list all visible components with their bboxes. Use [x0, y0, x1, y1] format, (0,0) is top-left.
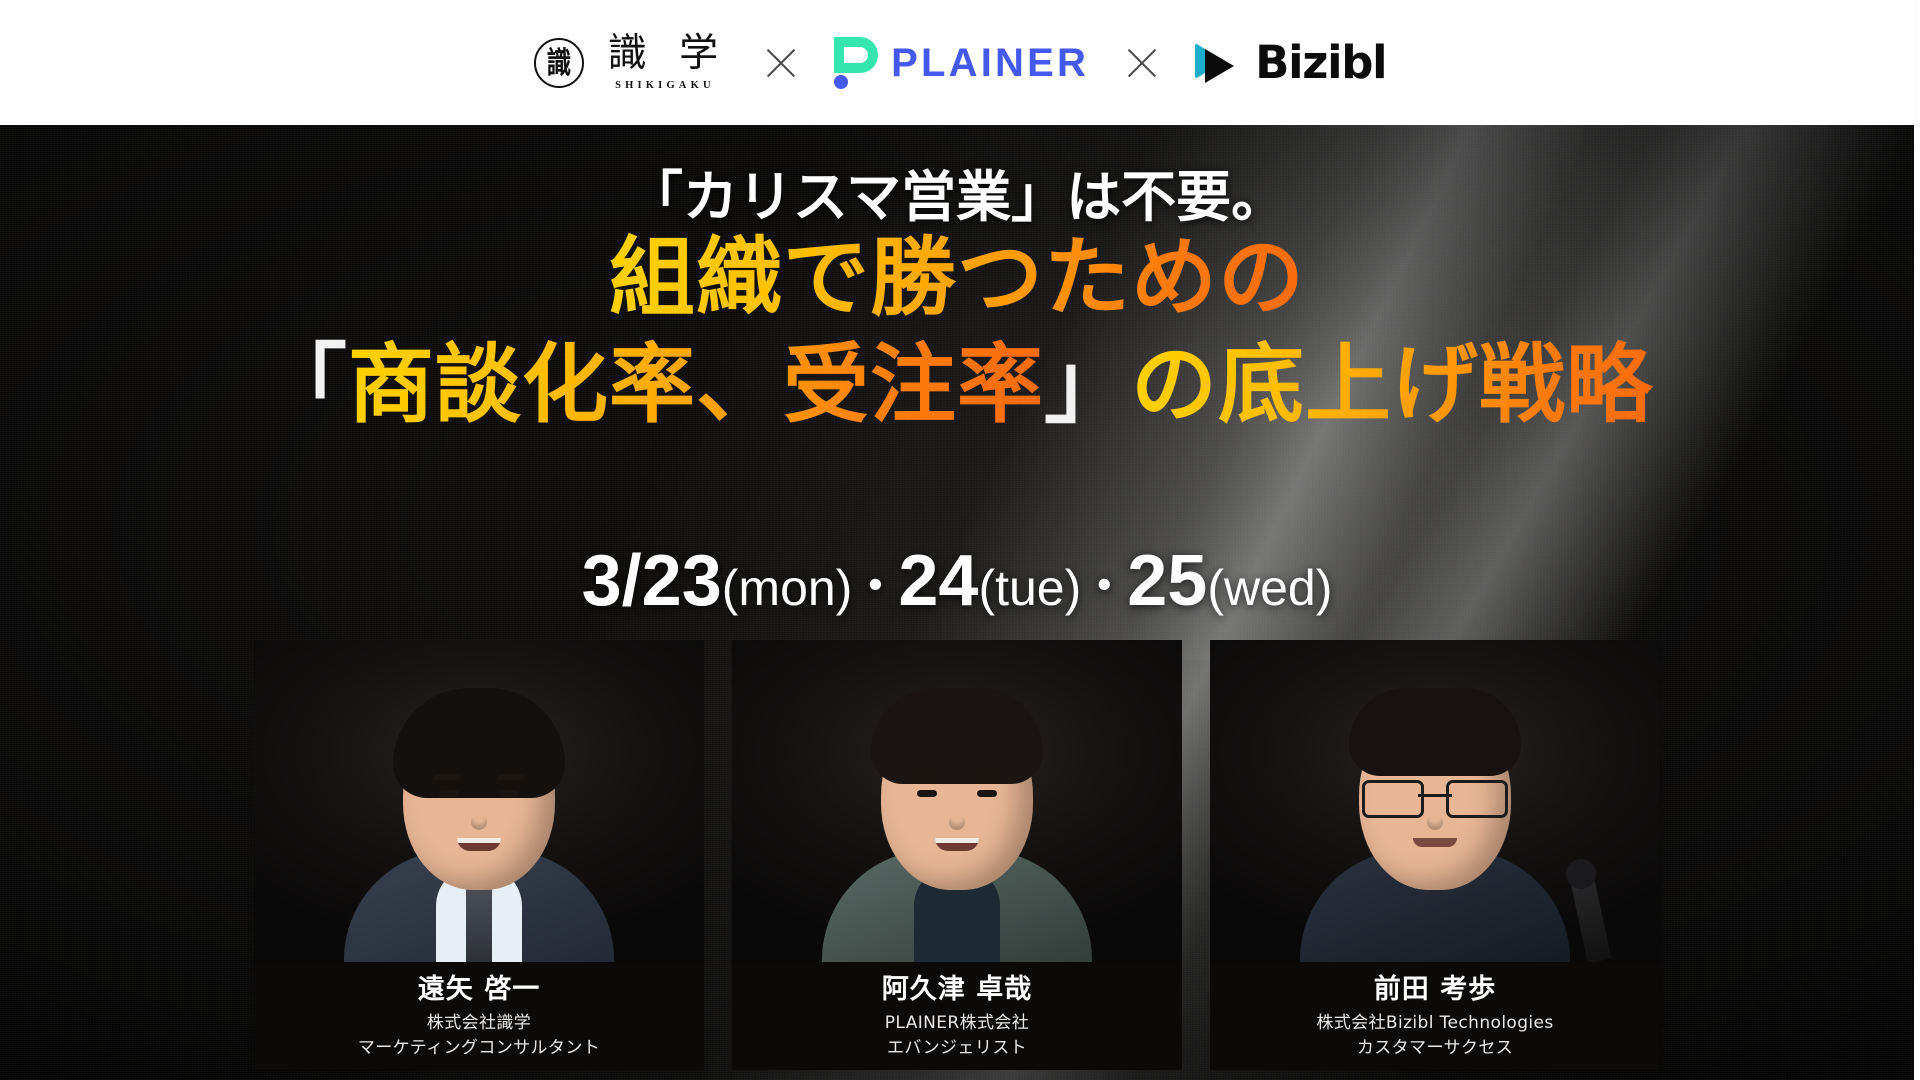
speaker-name-plate: 遠矢 啓一 株式会社識学 マーケティングコンサルタント	[254, 962, 704, 1070]
speaker-portrait-1	[254, 640, 704, 962]
speaker-card: 前田 考歩 株式会社Bizibl Technologies カスタマーサクセス	[1210, 640, 1660, 1070]
speaker-photo	[1210, 640, 1660, 962]
speaker-name: 前田 考歩	[1374, 974, 1496, 1005]
portrait-brow-right	[976, 774, 1002, 780]
portrait-nose	[471, 814, 487, 830]
speaker-list: 遠矢 啓一 株式会社識学 マーケティングコンサルタント	[0, 640, 1914, 1070]
bizibl-wordmark: Bizibl	[1255, 40, 1386, 85]
headline-inner-text: 商談化率、受注率	[348, 335, 1044, 435]
hero-kicker: 「カリスマ営業」は不要。	[0, 170, 1914, 225]
portrait-hair	[1349, 688, 1521, 776]
speaker-photo	[732, 640, 1182, 962]
event-date-line: 3/23(mon)・24(tue)・25(wed)	[0, 545, 1914, 617]
headline-line-1-text: 組織で勝つための	[609, 228, 1305, 328]
portrait-glasses-icon	[1362, 780, 1508, 814]
headline-close-bracket: 」	[1044, 335, 1131, 435]
speaker-photo	[254, 640, 704, 962]
headline-open-bracket: 「	[261, 335, 348, 435]
cross-separator-icon-1	[762, 44, 800, 82]
date-separator-2: ・	[1081, 559, 1127, 613]
plainer-mark-icon	[834, 37, 878, 89]
portrait-eye-left	[439, 790, 459, 797]
speaker-company: 株式会社識学	[427, 1011, 531, 1036]
shikigaku-seal-glyph: 識	[547, 49, 571, 79]
portrait-eye-right	[499, 790, 519, 797]
portrait-mouth	[457, 838, 501, 851]
headline-tail-text: の底上げ戦略	[1131, 335, 1653, 435]
speaker-role: カスタマーサクセス	[1357, 1036, 1513, 1061]
brand-logo-bar: 識 識 学 SHIKIGAKU PLAINER Bizibl	[0, 0, 1920, 125]
portrait-brow-left	[912, 774, 938, 780]
shikigaku-roman: SHIKIGAKU	[611, 80, 715, 91]
right-edge-border	[1914, 0, 1920, 1080]
webinar-banner: 識 識 学 SHIKIGAKU PLAINER Bizibl	[0, 0, 1920, 1080]
date-3: 25	[1127, 541, 1207, 621]
cross-separator-icon-2	[1123, 44, 1161, 82]
plainer-wordmark: PLAINER	[891, 43, 1089, 83]
speaker-role: マーケティングコンサルタント	[358, 1036, 600, 1061]
speaker-card: 遠矢 啓一 株式会社識学 マーケティングコンサルタント	[254, 640, 704, 1070]
speaker-name-plate: 前田 考歩 株式会社Bizibl Technologies カスタマーサクセス	[1210, 962, 1660, 1070]
speaker-name: 阿久津 卓哉	[882, 974, 1032, 1005]
date-2-dow: (tue)	[978, 560, 1081, 616]
logo-shikigaku: 識 識 学 SHIKIGAKU	[534, 34, 728, 91]
portrait-eye-left	[917, 790, 937, 797]
speaker-name-plate: 阿久津 卓哉 PLAINER株式会社 エバンジェリスト	[732, 962, 1182, 1070]
plainer-mark-body	[834, 37, 878, 73]
portrait-mouth	[935, 838, 979, 851]
speaker-portrait-2	[732, 640, 1182, 962]
portrait-tie	[466, 888, 492, 962]
portrait-brow-right	[498, 774, 524, 780]
logo-bizibl: Bizibl	[1195, 40, 1386, 85]
shikigaku-kanji: 識 学	[598, 34, 728, 73]
portrait-hair	[871, 688, 1043, 784]
bizibl-play-front-triangle	[1205, 49, 1234, 83]
speaker-name: 遠矢 啓一	[418, 974, 540, 1005]
date-1: 3/23	[582, 541, 722, 621]
portrait-nose	[949, 814, 965, 830]
date-2: 24	[898, 541, 978, 621]
speaker-company: 株式会社Bizibl Technologies	[1316, 1011, 1553, 1036]
bizibl-play-icon	[1195, 41, 1245, 85]
portrait-nose	[1427, 814, 1443, 830]
shikigaku-wordmark: 識 学 SHIKIGAKU	[598, 34, 728, 91]
date-separator-1: ・	[852, 559, 898, 613]
date-1-dow: (mon)	[722, 560, 853, 616]
headline-line-1: 組織で勝つための	[0, 235, 1914, 321]
headline-line-2: 「商談化率、受注率」の底上げ戦略	[0, 342, 1914, 428]
portrait-mouth	[1413, 838, 1457, 847]
portrait-eye-right	[977, 790, 997, 797]
shikigaku-seal-icon: 識	[534, 38, 584, 88]
speaker-card: 阿久津 卓哉 PLAINER株式会社 エバンジェリスト	[732, 640, 1182, 1070]
plainer-mark-dot	[834, 75, 848, 89]
portrait-brow-left	[434, 774, 460, 780]
logo-plainer: PLAINER	[834, 37, 1089, 89]
date-3-dow: (wed)	[1207, 560, 1332, 616]
speaker-company: PLAINER株式会社	[885, 1011, 1029, 1036]
speaker-portrait-3	[1210, 640, 1660, 962]
speaker-role: エバンジェリスト	[887, 1036, 1027, 1061]
